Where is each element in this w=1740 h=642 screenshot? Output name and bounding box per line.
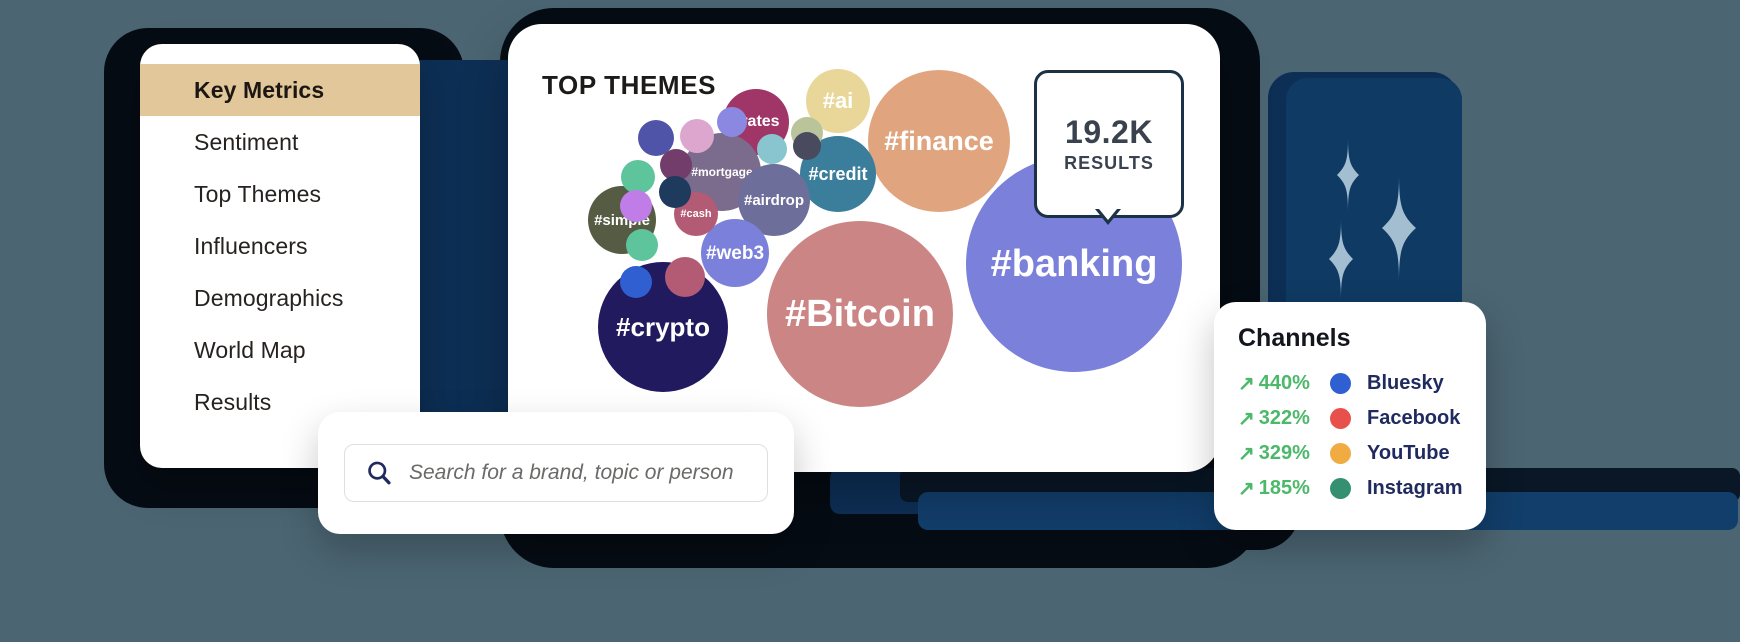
screenshot-root: Key MetricsSentimentTop ThemesInfluencer… — [0, 0, 1740, 642]
sidebar-item-top-themes[interactable]: Top Themes — [140, 168, 420, 220]
channel-percent: 185% — [1259, 477, 1310, 500]
callout-pointer — [1095, 209, 1121, 225]
bubble-unlabeled[interactable] — [665, 257, 705, 297]
channel-name: Bluesky — [1367, 372, 1444, 395]
sidebar-item-sentiment[interactable]: Sentiment — [140, 116, 420, 168]
channel-percent: 440% — [1259, 372, 1310, 395]
bubble-label: #credit — [808, 165, 867, 183]
bubble-unlabeled[interactable] — [620, 190, 652, 222]
bubble-label: #mortgage — [691, 166, 752, 178]
bubble-unlabeled[interactable] — [680, 119, 714, 153]
sidebar-item-label: World Map — [194, 337, 306, 364]
sidebar-item-world-map[interactable]: World Map — [140, 324, 420, 376]
trend-up-icon: ↗ — [1238, 441, 1255, 466]
bubble-label: #banking — [991, 245, 1158, 283]
search-icon — [365, 459, 393, 487]
sidebar-item-label: Demographics — [194, 285, 344, 312]
bubble-unlabeled[interactable] — [793, 132, 821, 160]
channel-color-dot — [1330, 443, 1351, 464]
sidebar-nav: Key MetricsSentimentTop ThemesInfluencer… — [140, 64, 420, 428]
bubble-unlabeled[interactable] — [621, 160, 655, 194]
channel-percent: 322% — [1259, 407, 1310, 430]
channel-change: ↗440% — [1238, 371, 1330, 396]
bubble-unlabeled[interactable] — [620, 266, 652, 298]
channel-row[interactable]: ↗185%Instagram — [1238, 473, 1463, 503]
channel-color-dot — [1330, 408, 1351, 429]
bubble-label: #airdrop — [744, 193, 804, 208]
channel-row[interactable]: ↗329%YouTube — [1238, 438, 1450, 468]
trend-up-icon: ↗ — [1238, 371, 1255, 396]
channel-color-dot — [1330, 373, 1351, 394]
bubble-unlabeled[interactable] — [757, 134, 787, 164]
sidebar-item-label: Results — [194, 389, 271, 416]
channel-name: Instagram — [1367, 477, 1463, 500]
channels-title: Channels — [1238, 324, 1351, 353]
channel-row[interactable]: ↗440%Bluesky — [1238, 368, 1444, 398]
channel-color-dot — [1330, 478, 1351, 499]
bubble-label: #web3 — [706, 244, 764, 263]
bubble-label: #finance — [884, 128, 994, 155]
channel-name: YouTube — [1367, 442, 1450, 465]
sidebar-item-label: Sentiment — [194, 129, 298, 156]
bubble-unlabeled[interactable] — [626, 229, 658, 261]
bubble-Bitcoin[interactable]: #Bitcoin — [767, 221, 953, 407]
sidebar-item-label: Key Metrics — [194, 77, 324, 104]
search-placeholder: Search for a brand, topic or person — [409, 461, 734, 485]
bubble-label: #Bitcoin — [785, 295, 935, 333]
trend-up-icon: ↗ — [1238, 406, 1255, 431]
channel-change: ↗322% — [1238, 406, 1330, 431]
channel-percent: 329% — [1259, 442, 1310, 465]
results-label: RESULTS — [1064, 153, 1154, 174]
sidebar-item-key-metrics[interactable]: Key Metrics — [140, 64, 420, 116]
bubble-crypto[interactable]: #crypto — [598, 262, 728, 392]
sidebar-item-label: Top Themes — [194, 181, 321, 208]
channel-row[interactable]: ↗322%Facebook — [1238, 403, 1460, 433]
bubble-unlabeled[interactable] — [659, 176, 691, 208]
bubble-label: #ai — [823, 90, 854, 112]
search-input[interactable]: Search for a brand, topic or person — [344, 444, 768, 502]
results-value: 19.2K — [1065, 114, 1153, 151]
sidebar-item-label: Influencers — [194, 233, 308, 260]
bubble-unlabeled[interactable] — [717, 107, 747, 137]
bubble-label: #crypto — [616, 314, 710, 340]
sidebar-item-demographics[interactable]: Demographics — [140, 272, 420, 324]
sidebar-item-influencers[interactable]: Influencers — [140, 220, 420, 272]
search-card: Search for a brand, topic or person — [318, 412, 794, 534]
sidebar-card: Key MetricsSentimentTop ThemesInfluencer… — [140, 44, 420, 468]
results-callout: 19.2K RESULTS — [1034, 70, 1184, 218]
channel-change: ↗185% — [1238, 476, 1330, 501]
bubble-finance[interactable]: #finance — [868, 70, 1010, 212]
bubble-label: #cash — [680, 209, 711, 220]
channels-card: Channels ↗440%Bluesky↗322%Facebook↗329%Y… — [1214, 302, 1486, 530]
channel-name: Facebook — [1367, 407, 1460, 430]
trend-up-icon: ↗ — [1238, 476, 1255, 501]
channel-change: ↗329% — [1238, 441, 1330, 466]
